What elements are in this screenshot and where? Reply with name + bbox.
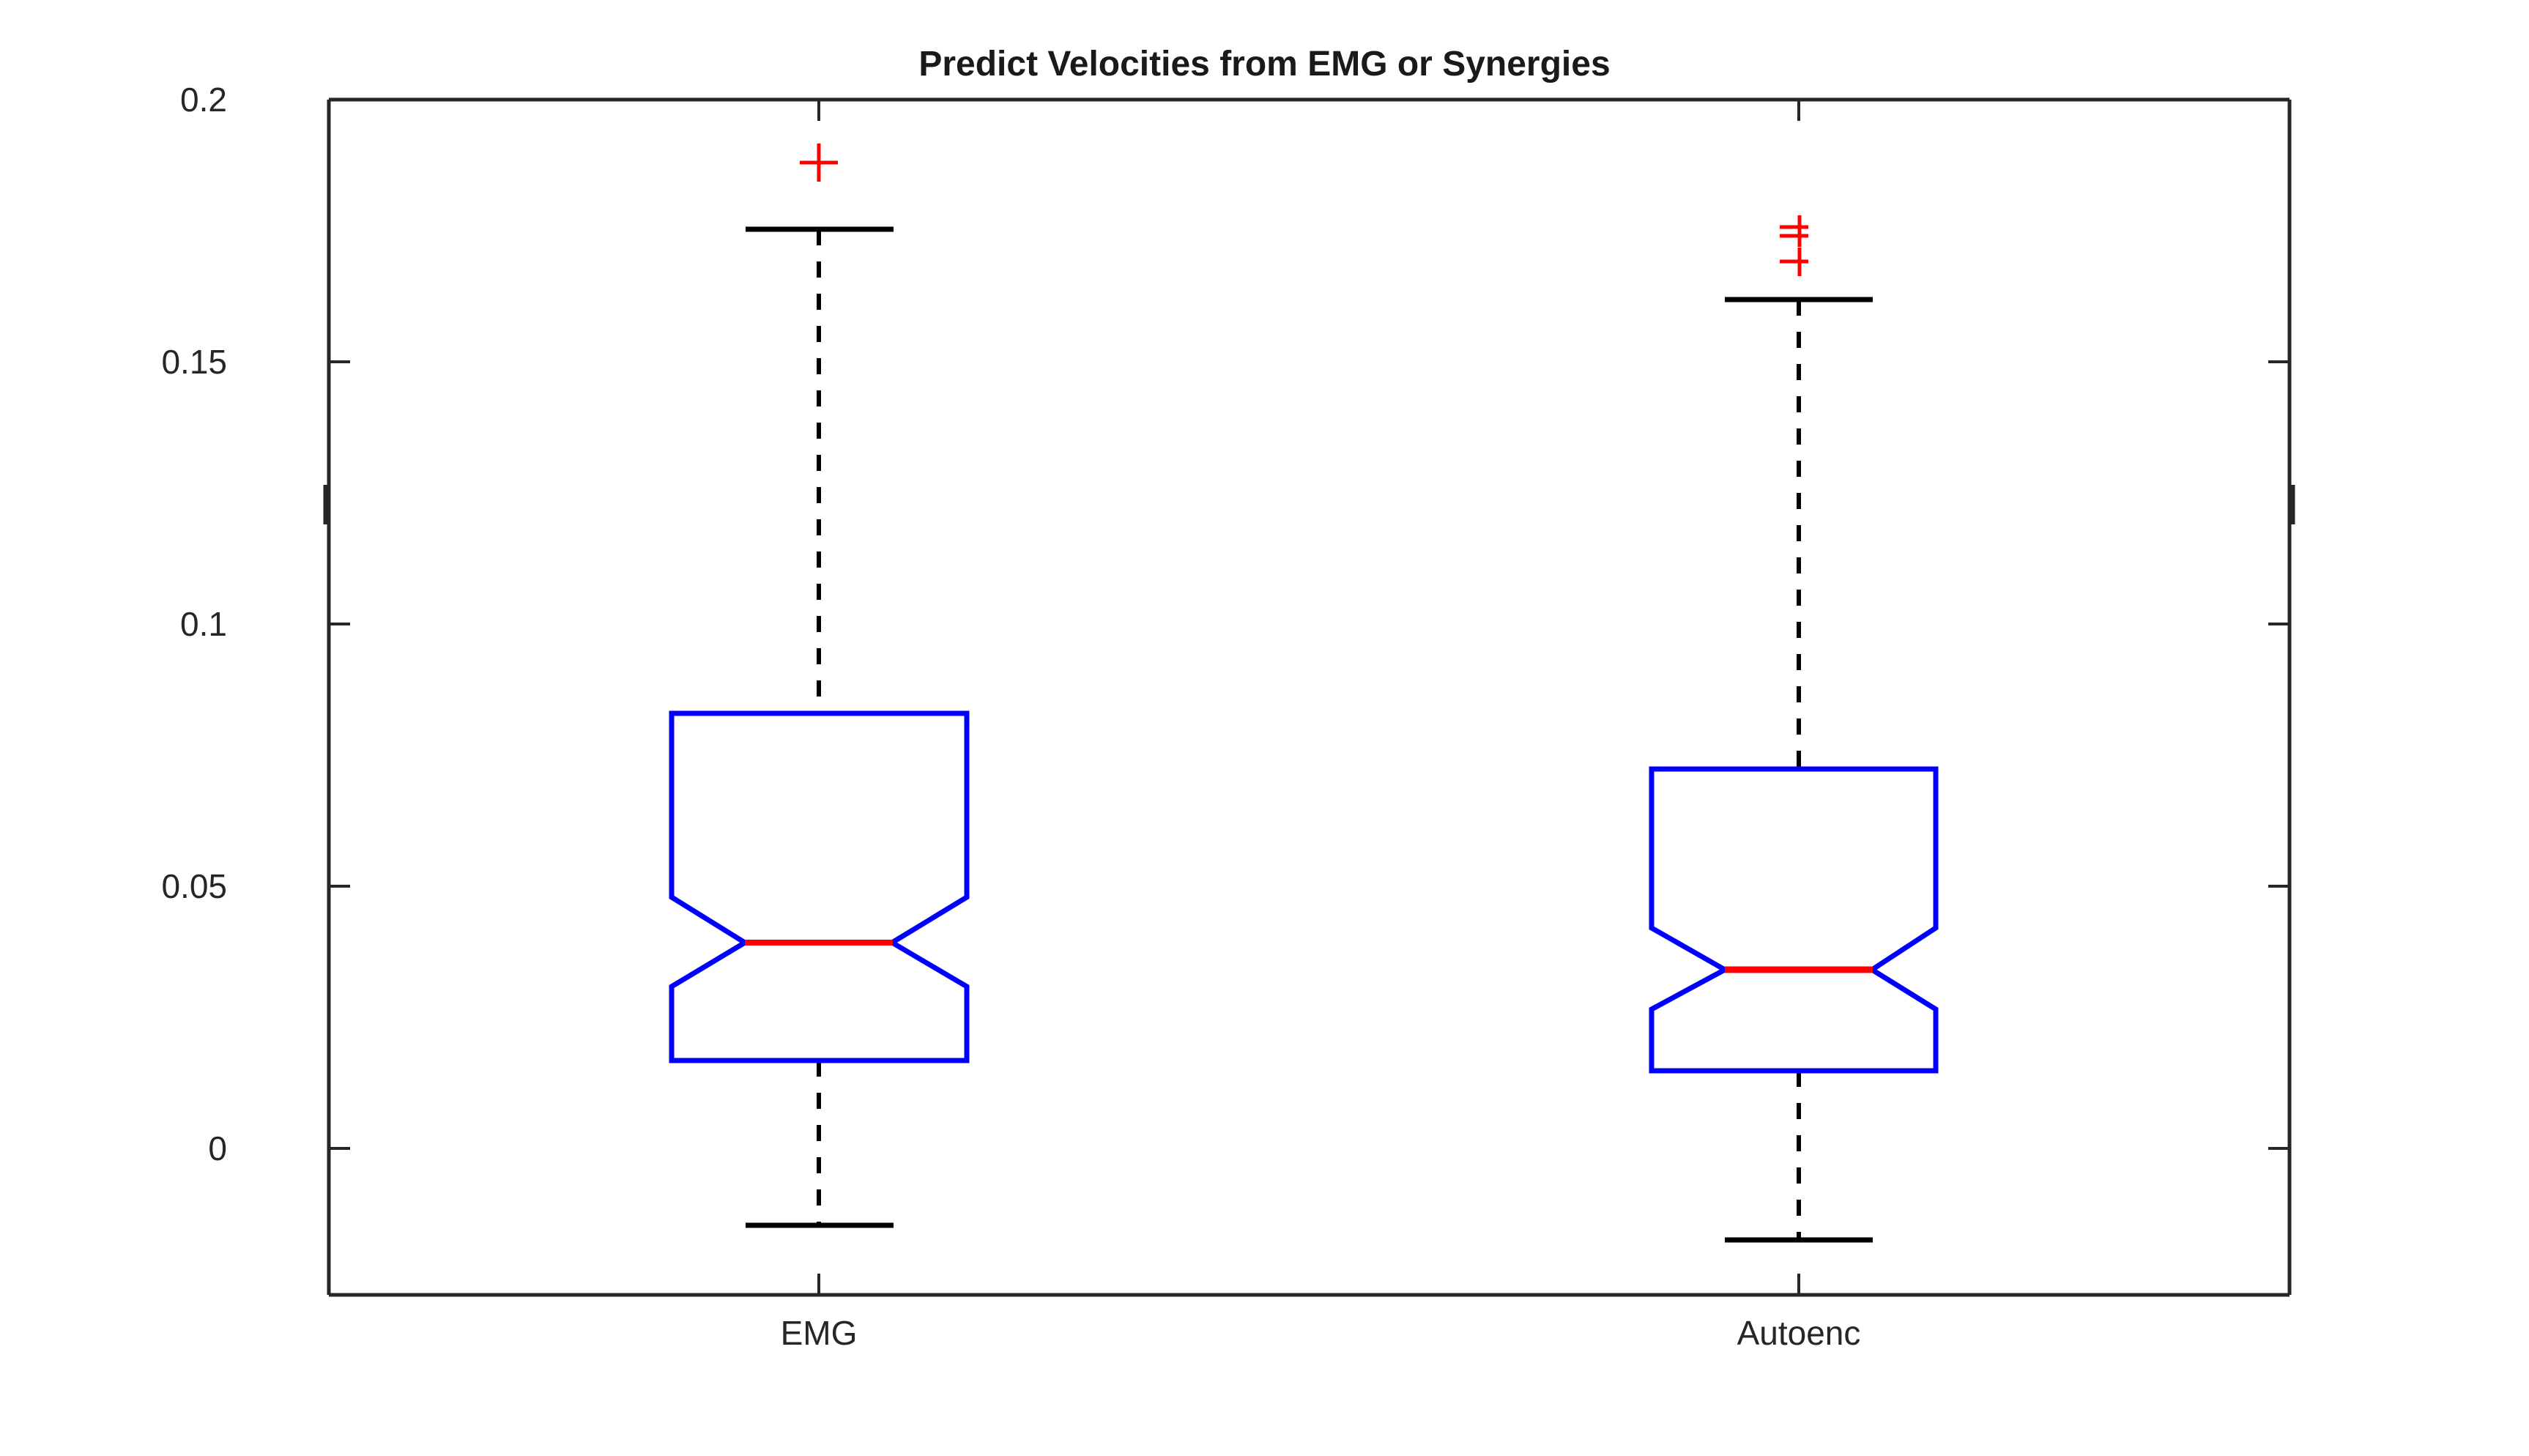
outlier-emg-1: [800, 144, 838, 182]
boxplot-group-emg[interactable]: [672, 144, 967, 1225]
outlier-autoenc-2: [1780, 221, 1808, 247]
boxplot-svg: [0, 0, 2529, 1456]
outlier-autoenc-1: [1780, 215, 1808, 244]
outlier-autoenc-3: [1780, 248, 1808, 276]
box-outline-autoenc: [1652, 769, 1936, 1071]
boxplot-group-autoenc[interactable]: [1652, 215, 1936, 1240]
figure-canvas: Predict Velocities from EMG or Synergies…: [0, 0, 2529, 1456]
x-tick-marks: [819, 100, 1799, 1295]
axes-frame: [329, 100, 2290, 1295]
box-outline-emg: [672, 713, 967, 1061]
y-tick-marks: [327, 100, 2292, 1148]
